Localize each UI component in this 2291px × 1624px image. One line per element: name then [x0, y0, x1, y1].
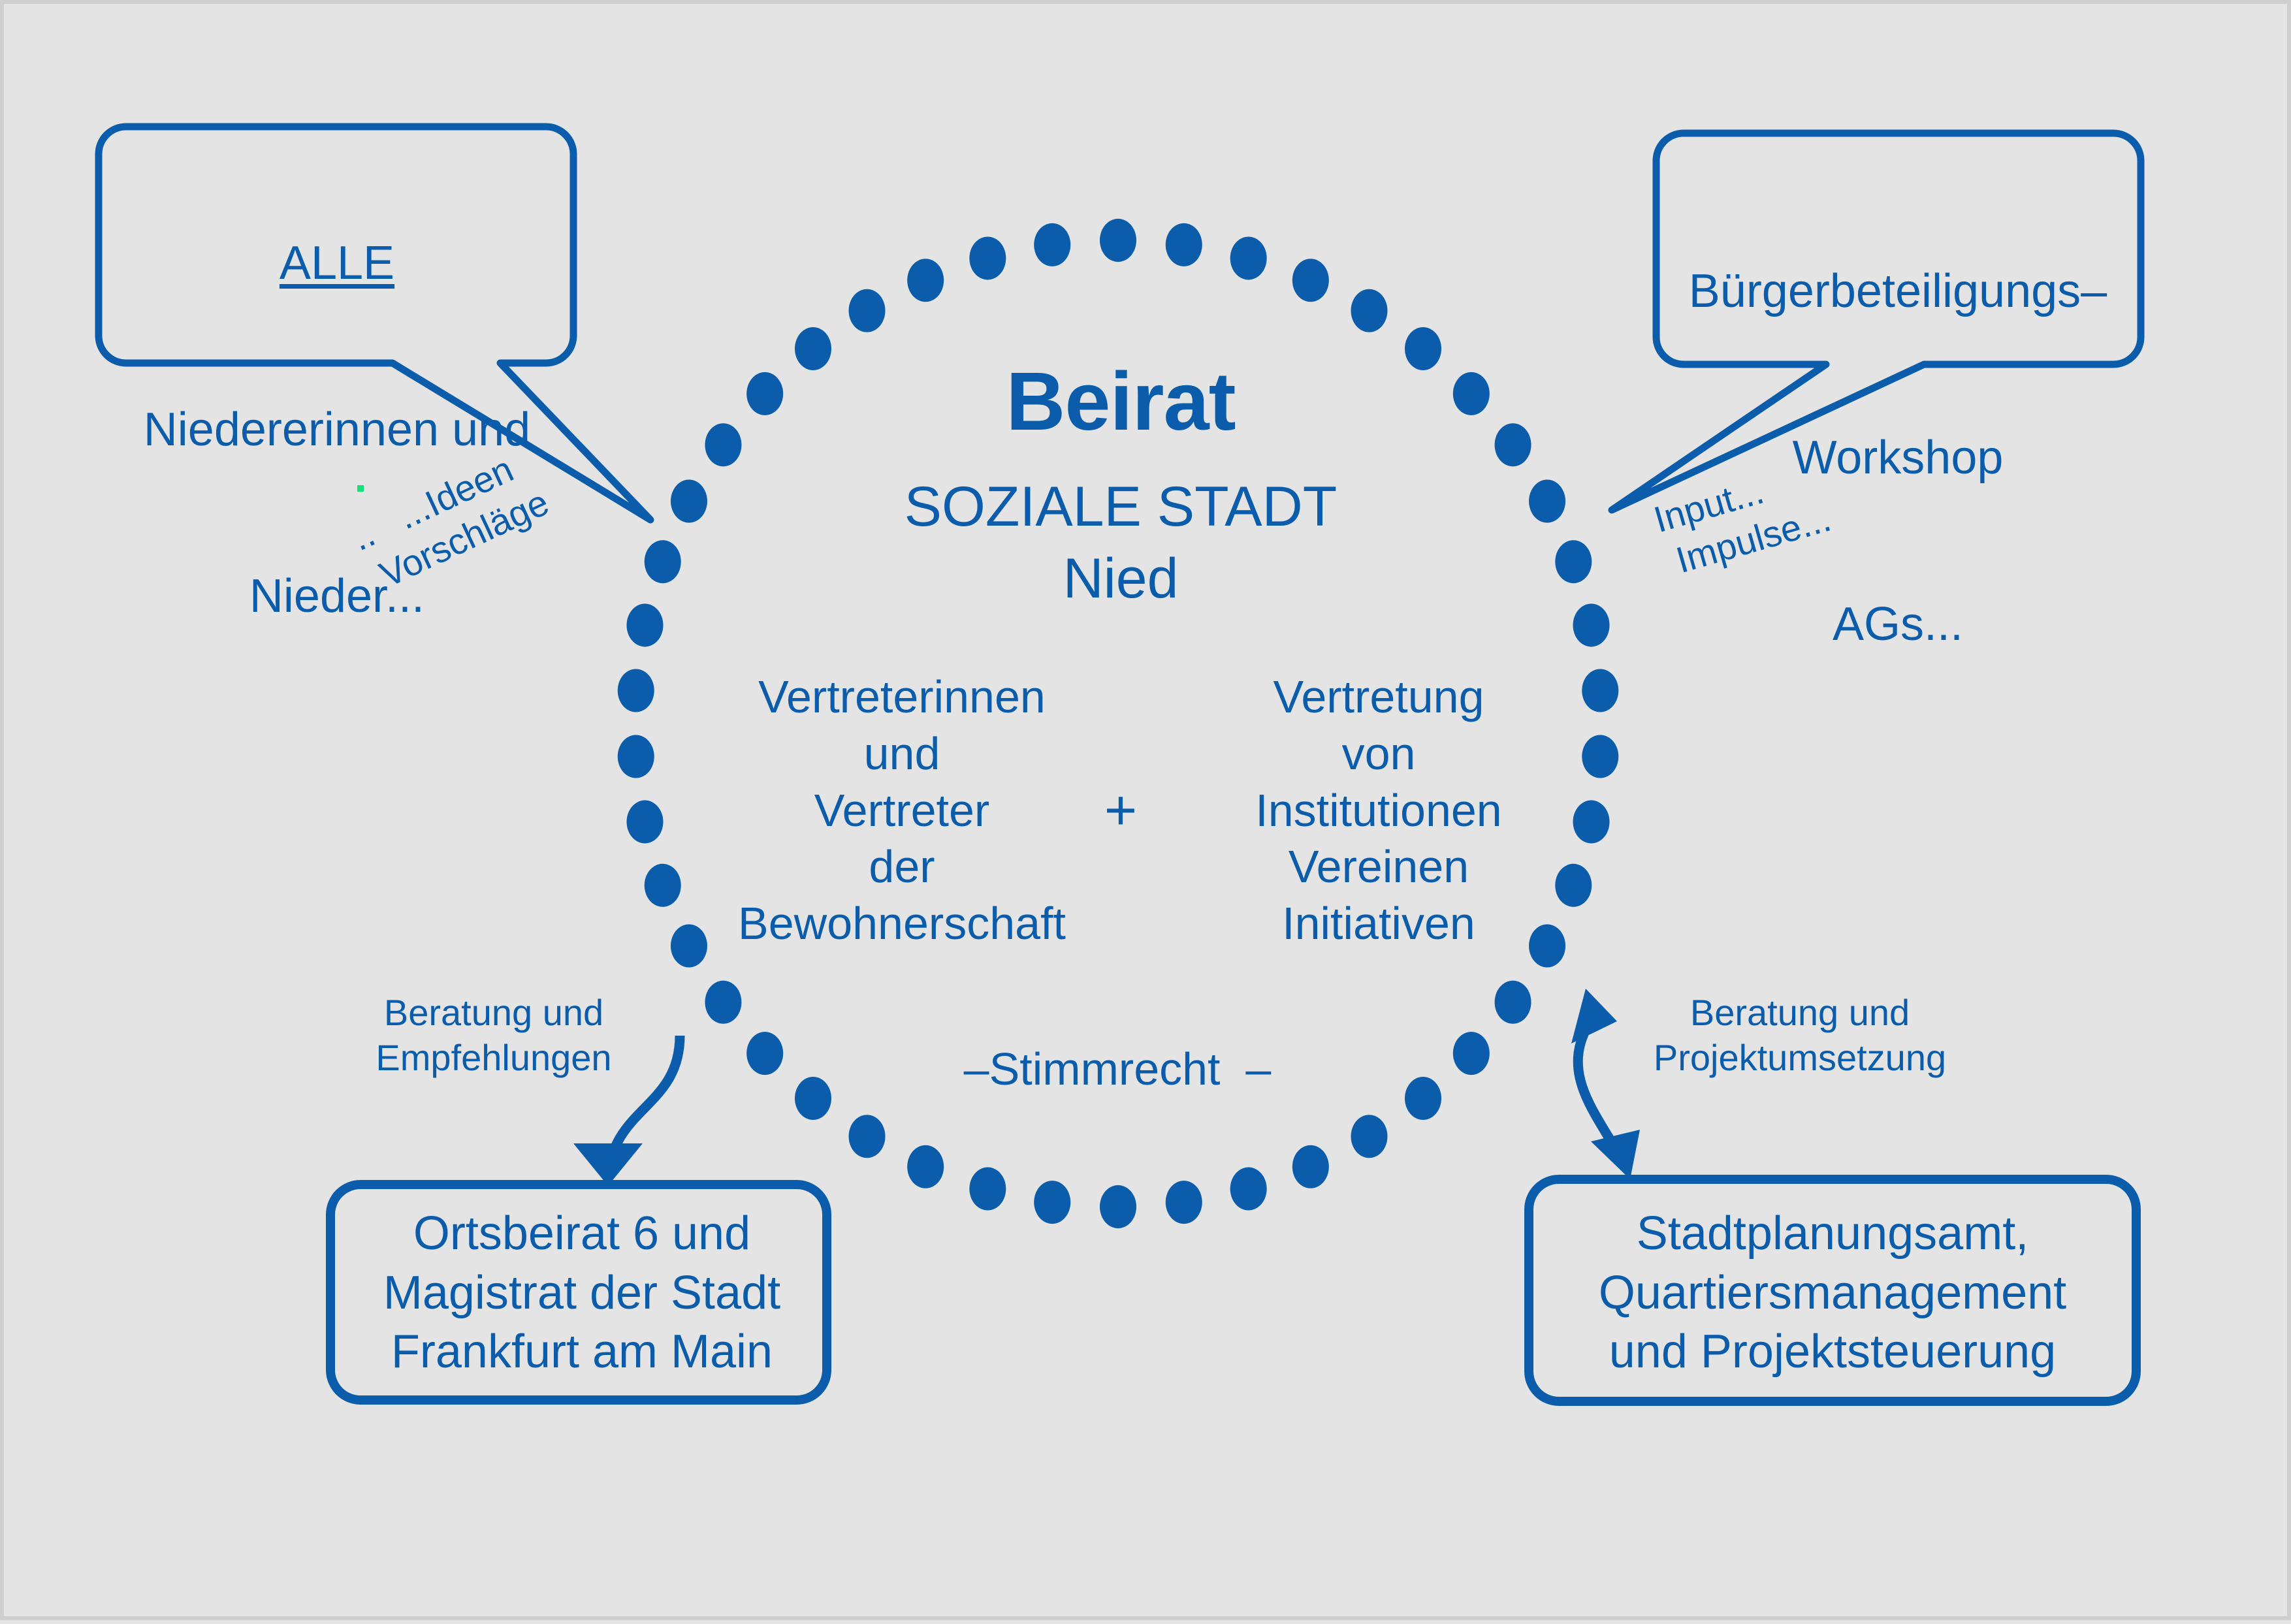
- speech-bubble-top-left-text: ALLE Niedererinnen und Nieder...: [102, 125, 572, 735]
- ring-dot: [969, 1168, 1006, 1211]
- ring-dot: [1405, 1077, 1441, 1120]
- ring-dot: [1573, 801, 1610, 844]
- ring-dot: [849, 289, 886, 332]
- ring-dot: [1292, 259, 1329, 302]
- ring-dot: [1495, 423, 1531, 466]
- center-title: Beirat: [775, 353, 1467, 451]
- diagram-canvas: ALLE Niedererinnen und Nieder... Bürgerb…: [0, 0, 2291, 1620]
- center-subtitle-1: SOZIALE STADT: [775, 474, 1467, 540]
- ring-dot: [618, 669, 654, 712]
- ring-dot: [1529, 480, 1565, 523]
- ring-dot: [795, 1077, 831, 1120]
- ring-dot: [618, 735, 654, 778]
- ring-dot: [1555, 540, 1592, 583]
- ring-dot: [746, 1032, 783, 1075]
- plus-icon: +: [1075, 778, 1166, 844]
- ring-dot: [1034, 223, 1070, 266]
- ring-dot: [626, 603, 663, 646]
- ring-dot: [1166, 223, 1202, 266]
- bubble-tl-line1: ALLE: [102, 236, 572, 291]
- center-column-right: Vertretung von Institutionen Vereinen In…: [1186, 669, 1571, 952]
- ring-dot: [645, 864, 681, 907]
- ring-dot: [1495, 981, 1531, 1024]
- ring-dot: [1453, 1032, 1490, 1075]
- arrow-beratung-projektumsetzung-head-down: [1591, 1130, 1640, 1179]
- ring-dot: [1034, 1181, 1070, 1224]
- bubble-tl-line3: Nieder...: [102, 569, 572, 624]
- annotation-beratung-empfehlungen: Beratung und Empfehlungen: [344, 990, 644, 1081]
- ring-dot: [705, 423, 741, 466]
- bubble-tr-line1: Bürgerbeteiligungs–: [1673, 264, 2123, 319]
- arrow-beratung-empfehlungen-head: [573, 1143, 643, 1186]
- ring-dot: [969, 236, 1006, 279]
- ring-dot: [671, 480, 707, 523]
- ring-dot: [1351, 289, 1387, 332]
- ring-dot: [1292, 1145, 1329, 1188]
- center-column-left: Vertreterinnen und Vertreter der Bewohne…: [696, 669, 1108, 952]
- ring-dot: [1582, 735, 1618, 778]
- arrow-beratung-projektumsetzung-head-up: [1571, 989, 1617, 1043]
- ring-dot: [1230, 236, 1267, 279]
- annotation-beratung-projektumsetzung: Beratung und Projektumsetzung: [1630, 990, 1970, 1081]
- ring-dot: [1166, 1181, 1202, 1224]
- ring-dot: [849, 1115, 886, 1158]
- ring-dot: [907, 1145, 944, 1188]
- center-footer-stimmrecht: –Stimmrecht –: [905, 1042, 1330, 1096]
- box-ortsbeirat-magistrat-label: Ortsbeirat 6 und Magistrat der Stadt Fra…: [344, 1204, 820, 1382]
- ring-dot: [1573, 603, 1610, 646]
- ring-dot: [645, 540, 681, 583]
- ring-dot: [626, 801, 663, 844]
- bubble-tr-line3: AGs...: [1673, 597, 2123, 652]
- ring-dot: [1100, 219, 1136, 262]
- ring-dot: [907, 259, 944, 302]
- ring-dot: [1351, 1115, 1387, 1158]
- ring-dot: [705, 981, 741, 1024]
- ring-dot: [1100, 1185, 1136, 1228]
- box-stadtplanungsamt-label: Stadtplanungsamt, Quartiersmanagement un…: [1539, 1204, 2126, 1382]
- center-subtitle-2: Nied: [775, 546, 1467, 612]
- ring-dot: [1230, 1168, 1267, 1211]
- ring-dot: [1582, 669, 1618, 712]
